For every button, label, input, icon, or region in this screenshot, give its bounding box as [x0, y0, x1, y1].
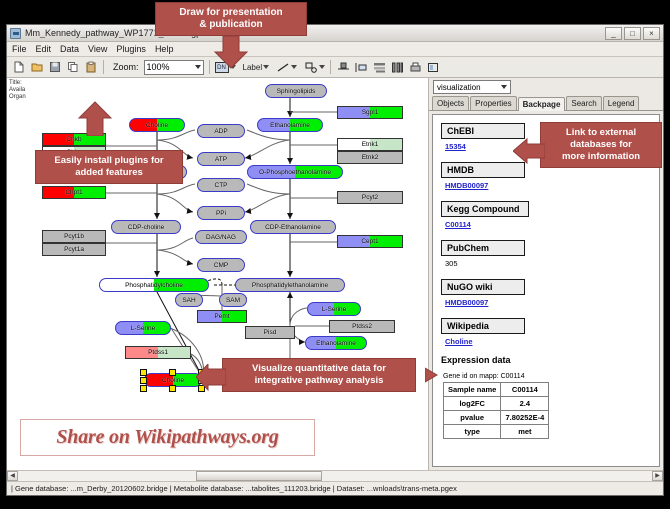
side-tabs[interactable]: Objects Properties Backpage Search Legen…: [429, 96, 663, 111]
table-cell-value: C00114: [501, 383, 549, 397]
print-icon[interactable]: [408, 60, 423, 75]
pathway-node-ptdss1[interactable]: Ptdss1: [125, 346, 191, 359]
pathway-node-choline-top[interactable]: Choline: [129, 118, 185, 132]
menu-help[interactable]: Help: [155, 44, 174, 54]
share-banner: Share on Wikipathways.org: [20, 419, 315, 456]
menu-edit[interactable]: Edit: [36, 44, 52, 54]
node-label: CDP-Ethanolamine: [264, 224, 322, 231]
maximize-button[interactable]: □: [624, 27, 641, 40]
toolbar-separator-3: [330, 60, 331, 74]
callout-link-arrow: [513, 136, 545, 168]
db-value-kegg-compound[interactable]: C00114: [445, 220, 655, 229]
minimize-button[interactable]: _: [605, 27, 622, 40]
screenshot-root: Mm_Kennedy_pathway_WP1771_45176.gpml _ □…: [0, 0, 670, 509]
selection-handle[interactable]: [140, 377, 147, 384]
statusbar-text: | Gene database: ...m_Derby_20120602.bri…: [11, 484, 457, 493]
toolbar: Zoom: 100% DN Label: [7, 57, 663, 78]
node-label: CDP-choline: [127, 224, 166, 231]
pathway-node-atp[interactable]: ATP: [197, 152, 245, 166]
pathway-node-cdp-choline[interactable]: CDP-choline: [111, 220, 181, 234]
callout-link-line1: Link to external: [547, 127, 655, 139]
node-label: PPi: [215, 210, 227, 217]
tab-backpage[interactable]: Backpage: [518, 97, 566, 111]
pathway-canvas[interactable]: Title: Availa Organ: [7, 78, 429, 470]
scroll-right-icon[interactable]: ▶: [652, 471, 663, 481]
menu-plugins[interactable]: Plugins: [116, 44, 146, 54]
close-button[interactable]: ×: [643, 27, 660, 40]
selection-handle[interactable]: [169, 385, 176, 392]
table-cell-key: log2FC: [444, 397, 501, 411]
open-icon[interactable]: [29, 60, 44, 75]
expression-table: Sample nameC00114log2FC2.4pvalue7.80252E…: [443, 382, 549, 439]
chevron-down-icon[interactable]: [319, 65, 325, 69]
new-icon[interactable]: [11, 60, 26, 75]
pathway-node-ethanolamine-bottom[interactable]: Ethanolamine: [305, 336, 367, 350]
callout-visualize: Visualize quantitative data for integrat…: [222, 358, 416, 392]
pathway-node-chpt1[interactable]: Chpt1: [42, 186, 106, 199]
callout-link-line3: more information: [547, 151, 655, 163]
zoom-value: 100%: [147, 61, 170, 74]
callout-link-line2: databases for: [547, 139, 655, 151]
pathway-node-sam[interactable]: SAM: [219, 293, 247, 307]
pathway-node-l-serine-left[interactable]: L-Serine: [115, 321, 171, 335]
node-label: Ptdss2: [351, 323, 373, 330]
pathway-node-phosphatidylcholine[interactable]: Phosphatidylcholine: [99, 278, 209, 292]
window-controls[interactable]: _ □ ×: [605, 27, 660, 40]
group-icon[interactable]: [354, 60, 369, 75]
table-cell-key: type: [444, 425, 501, 439]
db-header-wikipedia: Wikipedia: [441, 318, 525, 334]
table-cell-value: 2.4: [501, 397, 549, 411]
expression-data-heading: Expression data: [441, 355, 655, 365]
line-icon: [277, 62, 290, 73]
callout-visualize-line2: integrative pathway analysis: [229, 375, 409, 387]
zoom-label: Zoom:: [113, 62, 139, 72]
table-cell-value: met: [501, 425, 549, 439]
pathway-node-ppi[interactable]: PPi: [197, 206, 245, 220]
node-label: Chkb: [65, 136, 82, 143]
table-cell-key: pvalue: [444, 411, 501, 425]
callout-link: Link to external databases for more info…: [540, 122, 662, 168]
pathway-node-pcyt2[interactable]: Pcyt2: [337, 191, 403, 204]
table-cell-value: 7.80252E-4: [501, 411, 549, 425]
node-label: Choline: [145, 122, 169, 129]
menubar: File Edit Data View Plugins Help: [7, 42, 663, 57]
pathway-node-etnk2[interactable]: Etnk2: [337, 151, 403, 164]
node-label: ATP: [214, 156, 228, 163]
chevron-down-icon[interactable]: [263, 65, 269, 69]
node-label: Ethanolamine: [269, 122, 311, 129]
node-label: Phosphatidylethanolamine: [251, 282, 329, 289]
node-label: Ptdss1: [147, 349, 169, 356]
node-label: O-Phosphoethanolamine: [258, 169, 332, 176]
callout-draw: Draw for presentation & publication: [155, 2, 307, 36]
selection-handle[interactable]: [140, 369, 147, 376]
pathway-node-etnk1[interactable]: Etnk1: [337, 138, 403, 151]
callout-visualize-arrow: [196, 364, 226, 394]
pathway-node-pcyt1a[interactable]: Pcyt1a: [42, 243, 106, 256]
pathway-node-cmp[interactable]: CMP: [197, 258, 245, 272]
pathway-node-dag-nag[interactable]: DAG/NAG: [195, 230, 247, 244]
pathway-node-adp[interactable]: ADP: [197, 124, 245, 138]
gene-id-line: Gene id on mapp: C00114: [443, 373, 655, 380]
node-label: Sphingolipids: [276, 88, 317, 95]
save-icon[interactable]: [47, 60, 62, 75]
pathway-node-ethanolamine[interactable]: Ethanolamine: [257, 118, 323, 132]
node-label: SAM: [225, 297, 241, 304]
selection-handle[interactable]: [169, 369, 176, 376]
db-value-nugo-wiki[interactable]: HMDB00097: [445, 298, 655, 307]
node-label: SAH: [181, 297, 196, 304]
toolbar-separator-2: [209, 60, 210, 74]
callout-plugins-arrow: [77, 100, 113, 136]
node-label: L-Serine: [130, 325, 157, 332]
node-label: Chpt1: [64, 189, 83, 196]
pathway-node-ptdss2[interactable]: Ptdss2: [329, 320, 395, 333]
pathway-node-phosphatidylethanolamine[interactable]: Phosphatidylethanolamine: [235, 278, 345, 292]
table-row: log2FC2.4: [444, 397, 549, 411]
window-titlebar: Mm_Kennedy_pathway_WP1771_45176.gpml _ □…: [7, 25, 663, 42]
visualization-combobox[interactable]: visualization: [433, 80, 511, 94]
canvas-hscrollbar[interactable]: ◀ ▶: [7, 470, 663, 481]
table-row: typemet: [444, 425, 549, 439]
db-header-kegg-compound: Kegg Compound: [441, 201, 529, 217]
pathway-node-pcyt1b[interactable]: Pcyt1b: [42, 230, 106, 243]
node-label: DAG/NAG: [205, 234, 237, 241]
hscroll-track[interactable]: [18, 471, 652, 481]
pathway-node-sphingolipids[interactable]: Sphingolipids: [265, 84, 327, 98]
pathway-node-cept1[interactable]: Cept1: [337, 235, 403, 248]
statusbar: | Gene database: ...m_Derby_20120602.bri…: [7, 481, 663, 495]
pathway-node-sah[interactable]: SAH: [175, 293, 203, 307]
tab-properties[interactable]: Properties: [470, 96, 516, 110]
menu-file[interactable]: File: [12, 44, 27, 54]
zoom-combobox[interactable]: 100%: [144, 60, 204, 75]
order-icon[interactable]: [372, 60, 387, 75]
share-banner-text: Share on Wikipathways.org: [56, 426, 278, 449]
node-label: ADP: [213, 128, 228, 135]
selection-handle[interactable]: [140, 385, 147, 392]
pathway-node-cdp-ethanolamine[interactable]: CDP-Ethanolamine: [250, 220, 336, 234]
node-label: Phosphatidylcholine: [124, 282, 184, 289]
pathway-node-ctp[interactable]: CTP: [197, 178, 245, 192]
db-value-wikipedia[interactable]: Choline: [445, 337, 655, 346]
callout-draw-line2: & publication: [162, 19, 300, 31]
callout-visualize-line1: Visualize quantitative data for: [229, 363, 409, 375]
tab-search[interactable]: Search: [566, 96, 601, 110]
chevron-down-icon[interactable]: [501, 85, 507, 89]
table-cell-key: Sample name: [444, 383, 501, 397]
pathway-node-pemt[interactable]: Pemt: [197, 310, 247, 323]
chevron-down-icon[interactable]: [195, 65, 201, 69]
node-label: L-Serine: [321, 306, 348, 313]
menu-data[interactable]: Data: [60, 44, 79, 54]
hscroll-thumb[interactable]: [196, 471, 323, 481]
fit-icon[interactable]: [426, 60, 441, 75]
callout-plugins-line2: added features: [42, 167, 176, 179]
node-label: Etnk2: [361, 154, 380, 161]
db-value-pubchem: 305: [445, 259, 655, 268]
node-label: Ethanolamine: [315, 340, 357, 347]
pathway-node-o-phosphoethanolamine[interactable]: O-Phosphoethanolamine: [247, 165, 343, 179]
node-label: Sgpl1: [361, 109, 380, 116]
callout-draw-line1: Draw for presentation: [162, 7, 300, 19]
distribute-icon[interactable]: [390, 60, 405, 75]
visualization-value: visualization: [437, 83, 481, 92]
node-label: Pcyt2: [361, 194, 379, 201]
tab-legend[interactable]: Legend: [603, 96, 640, 110]
node-label: Pcyt1b: [63, 233, 85, 240]
table-row: pvalue7.80252E-4: [444, 411, 549, 425]
callout-plugins-line1: Easily install plugins for: [42, 155, 176, 167]
node-label: Etnk1: [361, 141, 380, 148]
align-icon[interactable]: [336, 60, 351, 75]
callout-draw-arrow: [213, 36, 249, 72]
db-value-hmdb[interactable]: HMDB00097: [445, 181, 655, 190]
node-label: Choline: [161, 377, 185, 384]
app-icon: [10, 28, 21, 39]
scroll-left-icon[interactable]: ◀: [7, 471, 18, 481]
pathway-node-l-serine-right[interactable]: L-Serine: [307, 302, 361, 316]
node-label: Pcyt1a: [63, 246, 85, 253]
node-label: Pisd: [263, 329, 278, 336]
pathway-node-pisd[interactable]: Pisd: [245, 326, 295, 339]
db-header-nugo-wiki: NuGO wiki: [441, 279, 525, 295]
toolbar-separator-1: [103, 60, 104, 74]
callout-plugins: Easily install plugins for added feature…: [35, 150, 183, 184]
menu-view[interactable]: View: [88, 44, 107, 54]
shape-icon: [305, 62, 318, 73]
shape-tool[interactable]: [305, 62, 325, 73]
node-label: Cept1: [360, 238, 379, 245]
db-header-pubchem: PubChem: [441, 240, 525, 256]
node-label: CTP: [214, 182, 229, 189]
node-label: CMP: [213, 262, 229, 269]
pathway-node-sgpl1[interactable]: Sgpl1: [337, 106, 403, 119]
table-row: Sample nameC00114: [444, 383, 549, 397]
paste-icon[interactable]: [83, 60, 98, 75]
chevron-down-icon[interactable]: [291, 65, 297, 69]
line-tool[interactable]: [277, 62, 297, 73]
copy-icon[interactable]: [65, 60, 80, 75]
node-label: Pemt: [213, 313, 230, 320]
tab-objects[interactable]: Objects: [432, 96, 469, 110]
expression-pointer-arrow: [425, 366, 443, 384]
